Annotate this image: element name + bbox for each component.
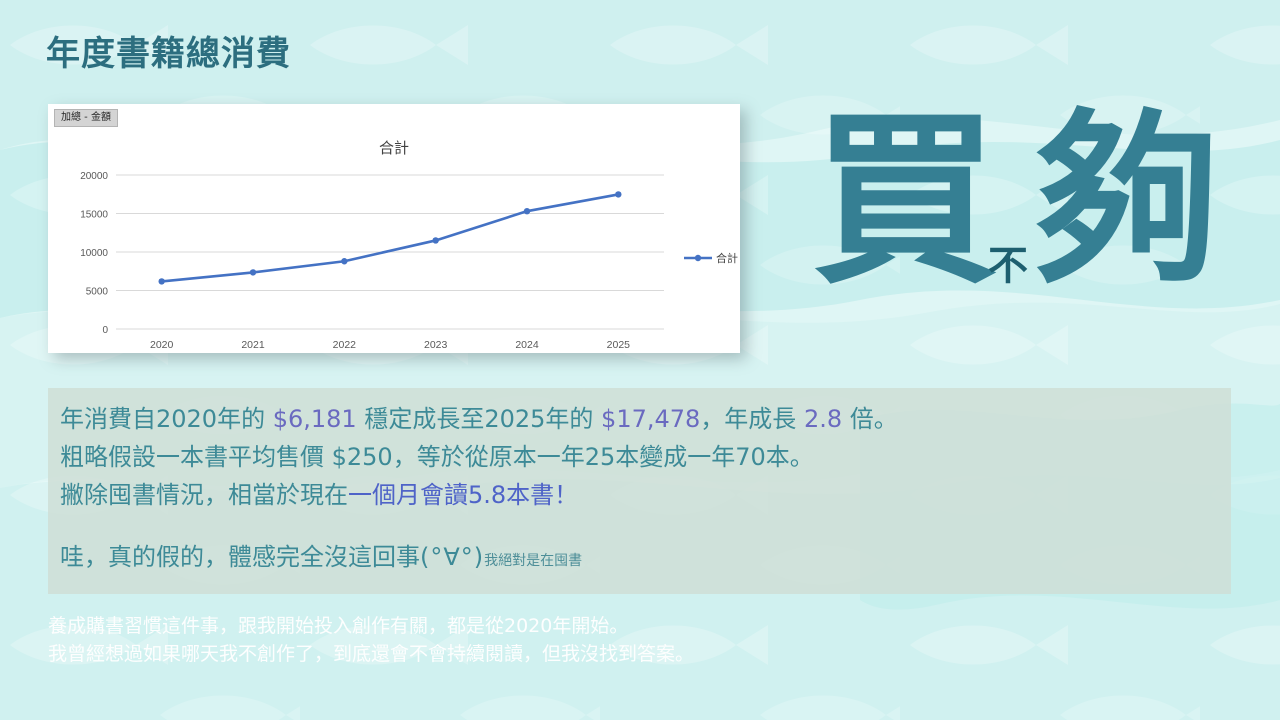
cm4-aside: 我絕對是在囤書 bbox=[484, 553, 582, 569]
x-axis-tick-label: 2023 bbox=[424, 339, 448, 351]
series-data-point[interactable] bbox=[524, 208, 530, 214]
footnote-line-2: 我曾經想過如果哪天我不創作了，到底還會不會持續閱讀，但我沒找到答案。 bbox=[48, 640, 694, 668]
x-axis-tick-label: 2020 bbox=[150, 339, 174, 351]
cm3-books-per-month: 一個月會讀5.8本書！ bbox=[348, 481, 578, 509]
series-data-point[interactable] bbox=[250, 269, 256, 275]
chart-legend[interactable]: 合計 bbox=[684, 251, 738, 265]
series-data-point[interactable] bbox=[341, 258, 347, 264]
cm4-text: 哇，真的假的，體感完全沒這回事 bbox=[60, 543, 420, 571]
chart-series-layer bbox=[158, 191, 621, 284]
chart-x-axis-labels: 202020212022202320242025 bbox=[150, 339, 630, 351]
x-axis-tick-label: 2022 bbox=[333, 339, 357, 351]
headline-char-enough: 夠 bbox=[1034, 92, 1216, 309]
y-axis-tick-label: 5000 bbox=[86, 287, 109, 298]
cm3-text-a: 撇除囤書情況，相當於現在 bbox=[60, 481, 348, 509]
footnote-line-1: 養成購書習慣這件事，跟我開始投入創作有關，都是從2020年開始。 bbox=[48, 612, 694, 640]
footnote: 養成購書習慣這件事，跟我開始投入創作有關，都是從2020年開始。 我曾經想過如果… bbox=[48, 612, 694, 668]
legend-swatch-marker bbox=[695, 255, 701, 261]
cm1-text-d: 倍。 bbox=[842, 405, 898, 433]
line-chart-svg: 05000100001500020000 2020202120222023202… bbox=[48, 104, 740, 353]
chart-plot-area: 05000100001500020000 2020202120222023202… bbox=[48, 104, 740, 353]
cm1-text-b: 穩定成長至2025年的 bbox=[357, 405, 601, 433]
commentary-line-1: 年消費自2020年的 $6,181 穩定成長至2025年的 $17,478，年成… bbox=[60, 400, 1231, 438]
y-axis-tick-label: 0 bbox=[102, 325, 108, 336]
commentary-box: 年消費自2020年的 $6,181 穩定成長至2025年的 $17,478，年成… bbox=[48, 388, 1231, 594]
cm1-amount-start: $6,181 bbox=[273, 405, 357, 433]
series-data-point[interactable] bbox=[615, 191, 621, 197]
commentary-spacer bbox=[60, 514, 1231, 538]
chart-panel[interactable]: 加總 - 金額 合計 05000100001500020000 20202021… bbox=[48, 104, 740, 353]
series-data-point[interactable] bbox=[158, 278, 164, 284]
y-axis-tick-label: 15000 bbox=[80, 210, 108, 221]
page-title: 年度書籍總消費 bbox=[46, 26, 291, 75]
series-line[interactable] bbox=[162, 194, 619, 281]
cm1-text-c: ，年成長 bbox=[700, 405, 804, 433]
x-axis-tick-label: 2025 bbox=[607, 339, 631, 351]
headline-char-not: 不 bbox=[988, 243, 1028, 289]
decorative-headline: 買不夠 bbox=[812, 108, 1280, 338]
commentary-line-2: 粗略假設一本書平均售價 $250，等於從原本一年25本變成一年70本。 bbox=[60, 438, 1231, 476]
cm4-kaomoji: (°∀°) bbox=[420, 543, 484, 571]
cm1-amount-end: $17,478 bbox=[601, 405, 700, 433]
cm1-text-a: 年消費自2020年的 bbox=[60, 405, 273, 433]
chart-y-axis-labels: 05000100001500020000 bbox=[80, 171, 108, 336]
x-axis-tick-label: 2021 bbox=[241, 339, 265, 351]
series-data-point[interactable] bbox=[432, 237, 438, 243]
commentary-line-4: 哇，真的假的，體感完全沒這回事(°∀°)我絕對是在囤書 bbox=[60, 538, 1231, 580]
cm1-growth-multiple: 2.8 bbox=[804, 405, 842, 433]
cm2-text: 粗略假設一本書平均售價 $250，等於從原本一年25本變成一年70本。 bbox=[60, 443, 814, 471]
commentary-line-3: 撇除囤書情況，相當於現在一個月會讀5.8本書！ bbox=[60, 476, 1231, 514]
y-axis-tick-label: 20000 bbox=[80, 171, 108, 182]
x-axis-tick-label: 2024 bbox=[515, 339, 539, 351]
y-axis-tick-label: 10000 bbox=[80, 248, 108, 259]
legend-label[interactable]: 合計 bbox=[716, 251, 738, 265]
headline-char-buy: 買 bbox=[812, 92, 994, 309]
